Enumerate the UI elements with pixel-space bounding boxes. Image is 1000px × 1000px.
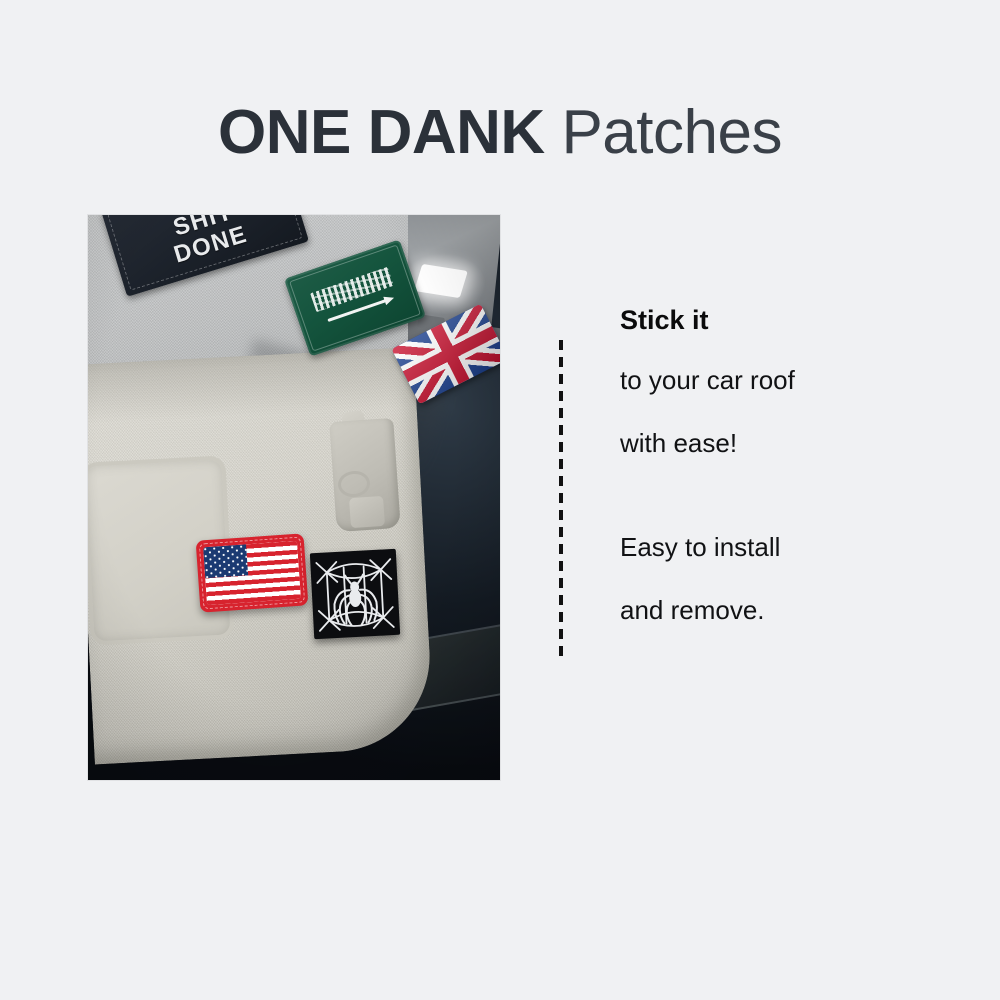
usa-canton xyxy=(203,544,248,578)
poster-canvas: ONE DANK Patches SHIT xyxy=(0,0,1000,1000)
page-title: ONE DANK Patches xyxy=(0,102,1000,164)
usa-flag-field xyxy=(203,541,301,605)
feature-copy: Stick it to your car roof with ease! Eas… xyxy=(620,304,950,656)
usa-stars xyxy=(203,544,248,578)
copy-heading: Stick it xyxy=(620,304,950,336)
copy-line-3: Easy to install xyxy=(620,531,950,564)
visor-clip-tab xyxy=(349,496,385,528)
spider-web-patch xyxy=(310,549,400,639)
product-photo: SHIT DONE xyxy=(88,215,500,780)
dashed-divider xyxy=(559,340,563,662)
page-title-suffix: Patches xyxy=(545,98,782,167)
usa-flag-patch xyxy=(196,533,309,612)
spider-web-graphic xyxy=(310,549,400,639)
page-title-brand: ONE DANK xyxy=(218,98,545,167)
copy-spacer xyxy=(620,489,950,531)
copy-line-2: with ease! xyxy=(620,427,950,460)
copy-line-4: and remove. xyxy=(620,594,950,627)
copy-line-1: to your car roof xyxy=(620,364,950,397)
